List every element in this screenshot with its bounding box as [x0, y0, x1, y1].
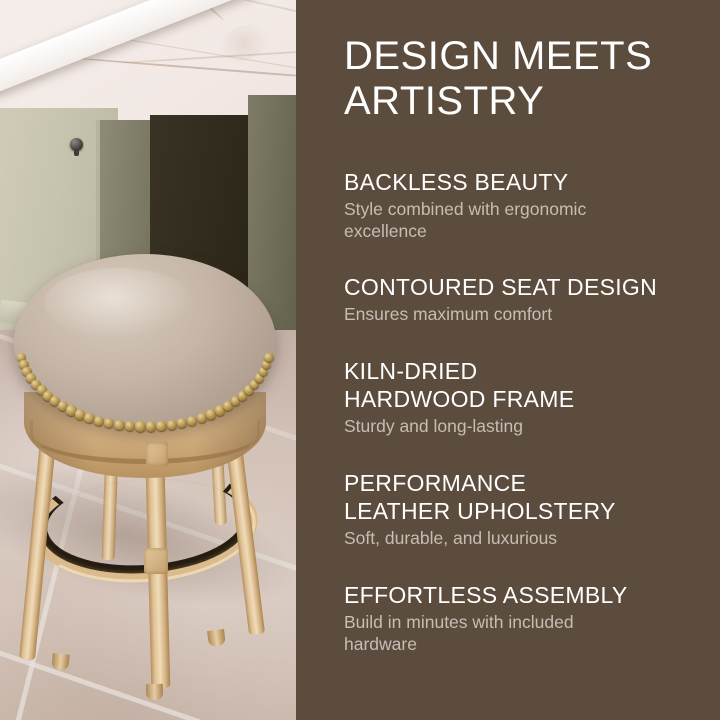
feature-item: BACKLESS BEAUTY Style combined with ergo… [344, 168, 696, 243]
nailhead [264, 353, 273, 362]
carved-rosette [146, 442, 168, 466]
feature-item: PERFORMANCE LEATHER UPHOLSTERY Soft, dur… [344, 469, 696, 550]
feature-list: BACKLESS BEAUTY Style combined with ergo… [344, 168, 696, 656]
feature-description: Soft, durable, and luxurious [344, 528, 696, 550]
nailhead [187, 416, 197, 426]
stool-foot [51, 653, 69, 671]
nailhead [125, 421, 135, 431]
stool-foot [146, 684, 163, 700]
feature-heading: BACKLESS BEAUTY [344, 168, 696, 196]
feature-description: Sturdy and long-lasting [344, 416, 696, 438]
nailhead [156, 421, 166, 431]
feature-heading: PERFORMANCE LEATHER UPHOLSTERY [344, 469, 696, 525]
bar-stool [0, 0, 296, 720]
feature-description: Style combined with ergonomic excellence [344, 199, 696, 243]
feature-item: KILN-DRIED HARDWOOD FRAME Sturdy and lon… [344, 357, 696, 438]
feature-item: CONTOURED SEAT DESIGN Ensures maximum co… [344, 273, 696, 326]
page-title: DESIGN MEETS ARTISTRY [344, 34, 696, 124]
feature-heading: EFFORTLESS ASSEMBLY [344, 581, 696, 609]
nailhead [94, 416, 104, 426]
nailhead [135, 421, 145, 431]
nailhead [177, 418, 187, 428]
feature-text-panel: DESIGN MEETS ARTISTRY BACKLESS BEAUTY St… [296, 0, 720, 720]
carved-rosette [144, 548, 168, 574]
feature-heading: CONTOURED SEAT DESIGN [344, 273, 696, 301]
product-feature-graphic: DESIGN MEETS ARTISTRY BACKLESS BEAUTY St… [0, 0, 720, 720]
nailhead-trim [14, 254, 276, 430]
product-photo [0, 0, 296, 720]
nailhead [114, 420, 124, 430]
nailhead [104, 418, 114, 428]
feature-heading: KILN-DRIED HARDWOOD FRAME [344, 357, 696, 413]
stool-foot [207, 629, 226, 647]
feature-description: Build in minutes with included hardware [344, 612, 696, 656]
feature-description: Ensures maximum comfort [344, 304, 696, 326]
feature-item: EFFORTLESS ASSEMBLY Build in minutes wit… [344, 581, 696, 656]
nailhead [167, 420, 177, 430]
nailhead [146, 421, 156, 431]
